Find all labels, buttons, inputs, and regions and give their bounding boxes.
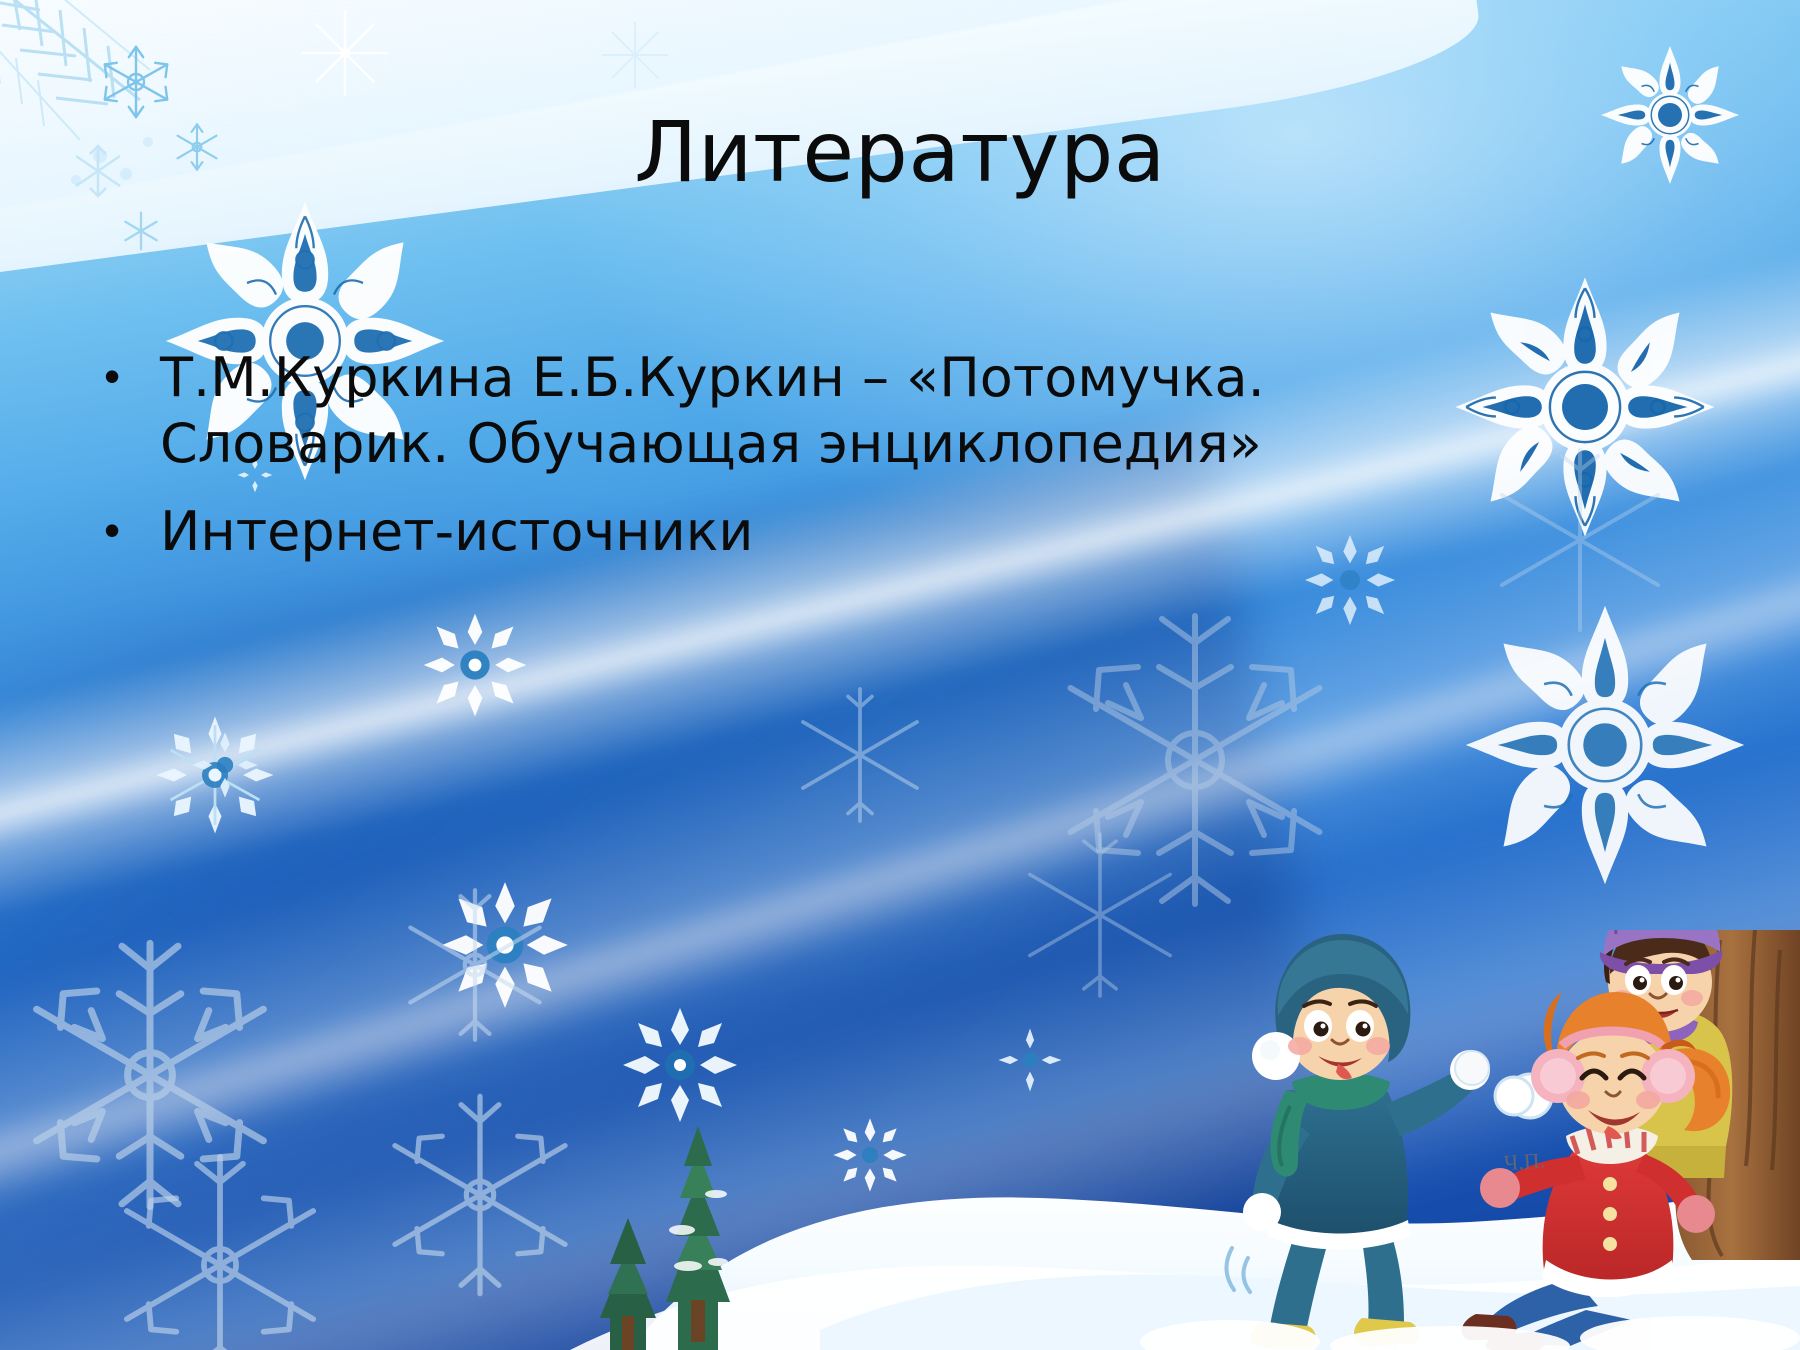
- bullet-text: Интернет-источники: [160, 499, 1516, 565]
- bullet-marker: •: [96, 499, 160, 561]
- sparkle-star-icon: [600, 20, 670, 90]
- snowflake-icon-pale: [375, 1090, 585, 1300]
- snowflake-icon: [420, 610, 530, 720]
- bullet-marker: •: [96, 345, 160, 407]
- children-playing-snowballs-illustration: [570, 930, 1800, 1350]
- page-title: Литература: [0, 108, 1800, 196]
- snowflake-icon: [118, 208, 164, 254]
- bullet-list: • Т.М.Куркина Е.Б.Куркин – «Потомучка. С…: [96, 345, 1516, 587]
- snowflake-icon-pale: [390, 880, 560, 1050]
- sparkle-star-icon: [378, 48, 438, 108]
- list-item: • Т.М.Куркина Е.Б.Куркин – «Потомучка. С…: [96, 345, 1516, 477]
- snowflake-icon-pale: [785, 680, 935, 830]
- snowflake-icon-right-lower: [1460, 600, 1750, 890]
- sparkle-star-icon: [300, 8, 390, 98]
- snowflake-icon-pale: [105, 1150, 335, 1350]
- snowflake-icon: [190, 730, 260, 800]
- artist-signature: Ч.П.: [1503, 1148, 1546, 1177]
- slide-canvas: Ч.П. Литература • Т.М.Куркина Е.Б.Куркин…: [0, 0, 1800, 1350]
- bullet-text: Т.М.Куркина Е.Б.Куркин – «Потомучка. Сло…: [160, 345, 1516, 477]
- list-item: • Интернет-источники: [96, 499, 1516, 565]
